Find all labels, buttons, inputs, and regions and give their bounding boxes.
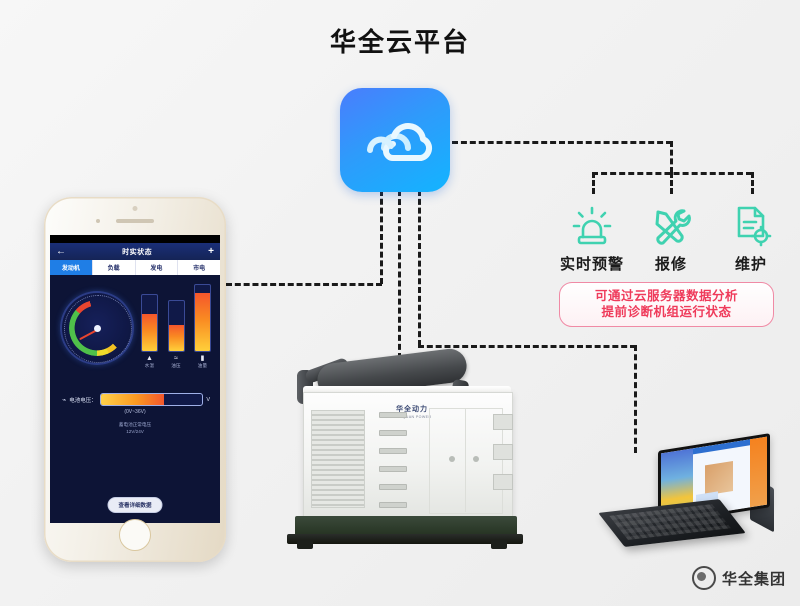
control-panel-window: [493, 444, 513, 460]
page-title: 华全云平台: [0, 22, 800, 59]
service-maintain-label: 维护: [714, 253, 788, 274]
tab-generation[interactable]: 发电: [136, 260, 179, 275]
bar-meters: ▲ 水温 ≈ 油压: [142, 289, 210, 369]
smartphone[interactable]: ← 时实状态 + 发动机 负载 发电 市电: [44, 197, 226, 562]
home-button[interactable]: [119, 519, 151, 551]
door-split: [465, 408, 466, 512]
screen-image-card: [705, 461, 732, 495]
connector-cloud-to-phone: [226, 283, 382, 286]
battery-bar: [100, 393, 204, 406]
back-icon[interactable]: ←: [56, 247, 66, 257]
front-camera-icon: [96, 219, 100, 223]
bar-fill: [142, 314, 157, 351]
connector-services-down: [670, 141, 673, 173]
connector-tablet-down: [634, 345, 637, 453]
connector-cloud-to-tablet: [418, 345, 636, 348]
panel-hinge: [379, 484, 407, 490]
gauge-hub: [94, 325, 101, 332]
analysis-note: 可通过云服务器数据分析 提前诊断机组运行状态: [559, 282, 774, 327]
battery-label: 电池电压：: [69, 396, 97, 404]
panel-hinge: [379, 448, 407, 454]
control-panel-window: [493, 474, 513, 490]
view-details-button[interactable]: 查看详细数据: [107, 497, 162, 513]
tab-engine[interactable]: 发动机: [50, 260, 93, 275]
battery-note: 蓄电池正常电压 12V/24V: [50, 421, 220, 435]
control-panel-window: [493, 414, 513, 430]
screen-topbar: [693, 439, 750, 454]
app-navbar: ← 时实状态 +: [50, 243, 220, 260]
tablet-laptop[interactable]: [600, 440, 780, 558]
bar-track: [168, 300, 185, 352]
diagram-stage: 华全云平台 实: [0, 0, 800, 606]
tab-bar: 发动机 负载 发电 市电: [50, 260, 220, 275]
fuel-level-icon: ▮: [198, 355, 207, 363]
bar-meter: ▲ 水温: [142, 294, 157, 369]
add-icon[interactable]: +: [208, 247, 214, 257]
skid-foot: [491, 540, 507, 549]
status-bar: [50, 235, 220, 243]
analysis-note-line1: 可通过云服务器数据分析: [564, 288, 769, 304]
connector-cloud-down-c: [418, 190, 421, 346]
phone-screen: ← 时实状态 + 发动机 负载 发电 市电: [50, 235, 220, 523]
earpiece-speaker: [116, 219, 154, 223]
bar-meter: ≈ 油压: [169, 300, 184, 369]
bar-track: [194, 284, 211, 352]
bar-meta: ≈ 油压: [171, 355, 180, 369]
battery-unit: V: [206, 397, 210, 403]
panel-hinge: [379, 466, 407, 472]
screen-panel-right: [750, 437, 767, 508]
service-maintain[interactable]: 维护: [714, 196, 788, 274]
tab-mains[interactable]: 市电: [178, 260, 220, 275]
company-logo-text: 华全集团: [722, 568, 786, 589]
panel-hinge: [379, 502, 407, 508]
bar-fill: [195, 293, 210, 351]
alarm-siren-icon: [555, 196, 629, 248]
access-door: [429, 408, 503, 514]
bar-fill: [169, 325, 184, 351]
proximity-sensor-icon: [133, 206, 138, 211]
wrench-hammer-icon: [634, 196, 708, 248]
service-repair[interactable]: 报修: [634, 196, 708, 274]
company-logo: 华全集团: [692, 566, 786, 590]
connector-branch-alarm: [592, 172, 595, 194]
bar-track: [141, 294, 158, 352]
battery-icon: ⌁: [62, 396, 66, 404]
generator-skid: [287, 534, 523, 544]
speed-gauge: [60, 291, 134, 365]
battery-note-line1: 蓄电池正常电压: [50, 421, 220, 428]
document-gear-icon: [714, 196, 788, 248]
panel-hinge: [379, 412, 407, 418]
app-title: 时实状态: [122, 247, 152, 257]
door-knob: [473, 456, 479, 462]
door-knob: [449, 456, 455, 462]
radiator-louver: [311, 410, 365, 508]
skid-foot: [297, 540, 313, 549]
panel-hinge: [379, 430, 407, 436]
connector-cloud-down-a: [380, 190, 383, 284]
water-temp-icon: ▲: [145, 355, 154, 363]
bar-meta: ▲ 水温: [145, 355, 154, 369]
analysis-note-line2: 提前诊断机组运行状态: [564, 304, 769, 320]
tab-load[interactable]: 负载: [93, 260, 136, 275]
bar-meter: ▮ 油量: [195, 284, 210, 369]
bar-label: 油压: [171, 363, 180, 369]
service-alarm[interactable]: 实时预警: [555, 196, 629, 274]
bar-label: 水温: [145, 363, 154, 369]
service-alarm-label: 实时预警: [555, 253, 629, 274]
battery-note-line2: 12V/24V: [50, 428, 220, 435]
connector-cloud-to-services: [452, 141, 672, 144]
connector-cloud-down-b: [398, 190, 401, 368]
huaquan-logo-icon: [692, 566, 716, 590]
diesel-generator-set: 华全动力 HUA QUAN POWER: [283, 352, 515, 552]
cloud-icon[interactable]: [340, 88, 450, 192]
battery-voltage-row: ⌁ 电池电压： V: [62, 393, 210, 406]
oil-pressure-icon: ≈: [171, 355, 180, 363]
connector-branch-maintain: [751, 172, 754, 194]
dashboard-body: ▲ 水温 ≈ 油压: [50, 275, 220, 523]
battery-bar-fill: [101, 394, 164, 405]
bar-label: 油量: [198, 363, 207, 369]
service-repair-label: 报修: [634, 253, 708, 274]
bar-meta: ▮ 油量: [198, 355, 207, 369]
connector-branch-repair: [670, 172, 673, 194]
battery-range: (0V~36V): [50, 409, 220, 415]
